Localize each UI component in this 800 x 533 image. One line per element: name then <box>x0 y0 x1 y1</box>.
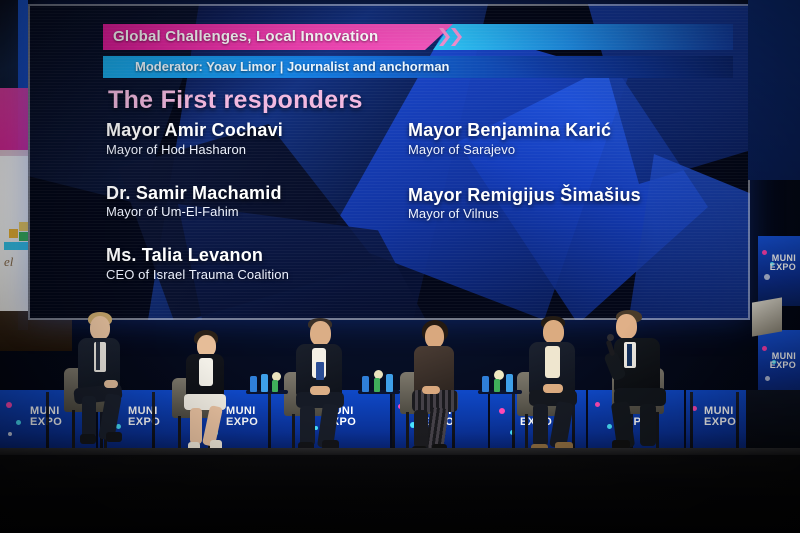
side-banner-upper: MUNIEXPO <box>758 236 800 306</box>
railing-post <box>268 392 271 452</box>
conference-photo: el Global Challenges, Local Innovation M… <box>0 0 800 533</box>
right-lectern <box>752 297 782 336</box>
panelist-seated-1 <box>62 312 142 452</box>
right-wall <box>748 0 800 180</box>
panelist-entry: Mayor Amir Cochavi Mayor of Hod Hasharon <box>106 120 406 157</box>
side-banner-brand: MUNIEXPO <box>770 352 796 370</box>
panelist-name: Mayor Remigijus Šimašius <box>408 185 708 206</box>
water-bottle <box>386 374 393 392</box>
panelist-role: Mayor of Um-El-Fahim <box>106 204 406 219</box>
panelist-entry: Mayor Benjamina Karić Mayor of Sarajevo <box>408 120 708 157</box>
stage-band-dark-end <box>746 390 800 450</box>
panelist-entry: Ms. Talia Levanon CEO of Israel Trauma C… <box>106 245 406 282</box>
panelist-name: Mayor Benjamina Karić <box>408 120 708 141</box>
water-bottle <box>261 374 268 392</box>
banner-script-mark: el <box>4 254 13 270</box>
panelist-column-right: Mayor Benjamina Karić Mayor of Sarajevo … <box>408 120 708 247</box>
panel-brand: MUNIEXPO <box>704 406 736 428</box>
panelist-seated-5 <box>515 316 597 458</box>
panelist-name: Ms. Talia Levanon <box>106 245 406 266</box>
title-bar-cyan-gradient <box>433 24 733 50</box>
railing-post <box>152 392 155 452</box>
railing-post <box>736 392 739 452</box>
panelist-entry: Dr. Samir Machamid Mayor of Um-El-Fahim <box>106 183 406 220</box>
panelist-role: Mayor of Vilnus <box>408 206 708 221</box>
water-bottle <box>506 374 513 392</box>
moderator-seated <box>598 310 684 458</box>
panelist-name: Dr. Samir Machamid <box>106 183 406 204</box>
panelist-name: Mayor Amir Cochavi <box>106 120 406 141</box>
session-title-bar: Global Challenges, Local Innovation <box>103 24 733 50</box>
water-bottle <box>250 376 257 392</box>
moderator-text: Moderator: Yoav Limor | Journalist and a… <box>135 59 450 74</box>
railing-post <box>392 392 395 452</box>
vase <box>374 378 380 392</box>
panelist-role: Mayor of Sarajevo <box>408 142 708 157</box>
session-title-text: Global Challenges, Local Innovation <box>113 28 378 45</box>
section-title: The First responders <box>108 86 363 115</box>
panelist-column-left: Mayor Amir Cochavi Mayor of Hod Hasharon… <box>106 120 406 308</box>
water-bottle <box>482 376 489 392</box>
water-bottle <box>362 376 369 392</box>
panelist-role: CEO of Israel Trauma Coalition <box>106 267 406 282</box>
microphone-head-icon <box>607 334 614 341</box>
vase <box>272 380 278 392</box>
panelist-seated-4 <box>400 320 478 458</box>
panelist-entry: Mayor Remigijus Šimašius Mayor of Vilnus <box>408 185 708 222</box>
vase <box>494 379 500 392</box>
railing-post <box>690 392 693 452</box>
panelist-role: Mayor of Hod Hasharon <box>106 142 406 157</box>
side-banner-brand: MUNIEXPO <box>770 254 796 272</box>
moderator-bar: Moderator: Yoav Limor | Journalist and a… <box>103 56 733 78</box>
led-presentation-screen: Global Challenges, Local Innovation Mode… <box>28 4 750 320</box>
panelist-seated-2 <box>172 330 246 455</box>
railing-post <box>46 392 49 452</box>
stage-floor <box>0 455 800 533</box>
panelist-seated-3 <box>282 318 364 456</box>
